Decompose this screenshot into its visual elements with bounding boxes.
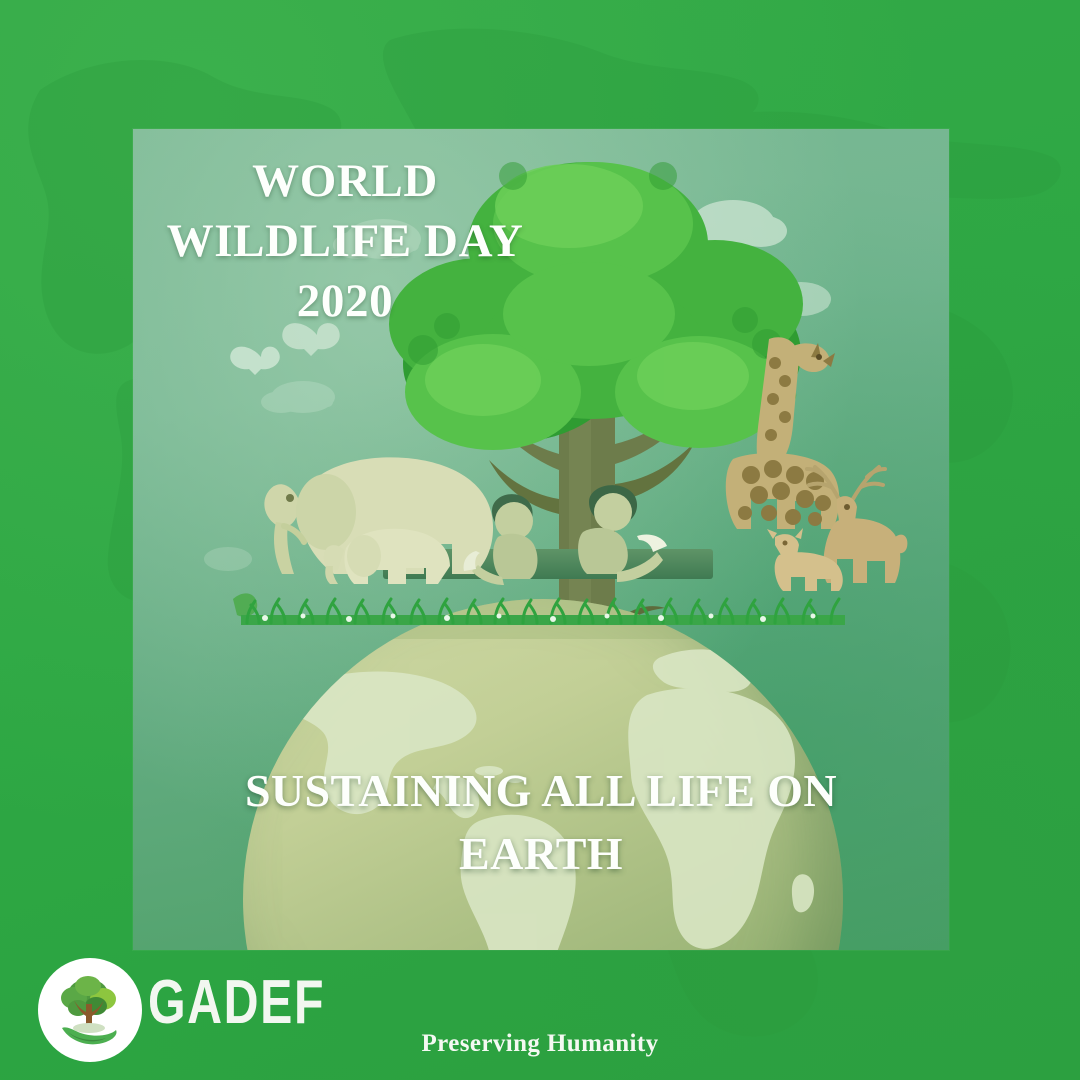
brand-tagline: Preserving Humanity bbox=[0, 1030, 1080, 1058]
headline-line-2: WILDLIFE DAY bbox=[155, 211, 535, 271]
antlers-icon bbox=[807, 467, 885, 499]
butterfly-icon bbox=[230, 347, 280, 375]
child-reading-left bbox=[458, 481, 568, 591]
headline-line-3: 2020 bbox=[155, 271, 535, 331]
brand-wordmark: GADEF bbox=[148, 972, 325, 1034]
brand-footer: GADEF Preserving Humanity bbox=[0, 950, 1080, 1080]
deer-fawn bbox=[745, 517, 855, 597]
headline-line-1: WORLD bbox=[155, 151, 535, 211]
cloud-icon bbox=[261, 381, 335, 413]
poster-subheading: SUSTAINING ALL LIFE ON EARTH bbox=[183, 759, 899, 886]
poster-artwork-panel: WORLD WILDLIFE DAY 2020 SUSTAINING ALL L… bbox=[133, 129, 949, 950]
child-reading-right bbox=[553, 474, 683, 594]
poster-headline: WORLD WILDLIFE DAY 2020 bbox=[155, 151, 535, 331]
